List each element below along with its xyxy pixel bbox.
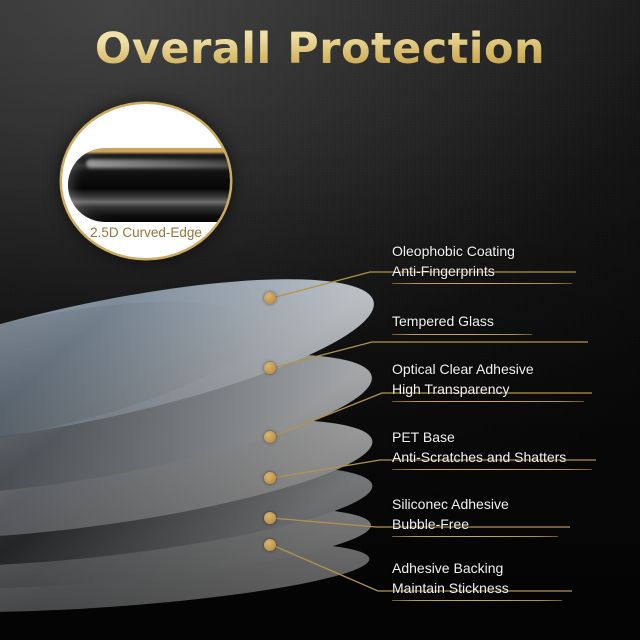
callout-line-2: Maintain Stickness: [392, 579, 562, 599]
callout-underline: [392, 469, 592, 470]
page-title: Overall Protection: [0, 24, 640, 74]
callout-line-1: Oleophobic Coating: [392, 242, 572, 262]
callout-line-2: High Transparency: [392, 380, 584, 400]
callout-optical-clear-adhesive: Optical Clear Adhesive High Transparency: [392, 360, 584, 402]
callout-leader-lines: [0, 0, 640, 640]
callout-siliconec-adhesive: Siliconec Adhesive Bubble-Free: [392, 495, 558, 537]
callout-line-1: Adhesive Backing: [392, 559, 562, 579]
callout-underline: [392, 600, 562, 601]
callout-underline: [392, 401, 584, 402]
marker-dot-optical-clear-adhesive[interactable]: [264, 431, 276, 443]
callout-pet-base: PET Base Anti-Scratches and Shatters: [392, 428, 592, 470]
marker-dot-oleophobic-coating[interactable]: [264, 292, 276, 304]
marker-dot-siliconec-adhesive[interactable]: [264, 512, 276, 524]
marker-dot-tempered-glass[interactable]: [264, 362, 276, 374]
callout-line-1: Tempered Glass: [392, 312, 532, 332]
marker-dot-pet-base[interactable]: [264, 472, 276, 484]
curved-glass-edge-icon: [68, 148, 230, 222]
callout-underline: [392, 334, 532, 335]
callout-adhesive-backing: Adhesive Backing Maintain Stickness: [392, 559, 562, 601]
marker-dot-adhesive-backing[interactable]: [264, 539, 276, 551]
callout-line-2: Bubble-Free: [392, 515, 558, 535]
callout-underline: [392, 283, 572, 284]
callout-oleophobic-coating: Oleophobic Coating Anti-Fingerprints: [392, 242, 572, 284]
callout-underline: [392, 536, 558, 537]
callout-line-1: PET Base: [392, 428, 592, 448]
callout-line-2: Anti-Scratches and Shatters: [392, 448, 592, 468]
product-infographic: 2.5D Curved-Edge Overall Protection Oleo…: [0, 0, 640, 640]
callout-line-1: Optical Clear Adhesive: [392, 360, 584, 380]
callout-line-2: Anti-Fingerprints: [392, 262, 572, 282]
callout-tempered-glass: Tempered Glass: [392, 312, 532, 335]
curved-edge-caption: 2.5D Curved-Edge: [62, 225, 230, 240]
callout-line-1: Siliconec Adhesive: [392, 495, 558, 515]
